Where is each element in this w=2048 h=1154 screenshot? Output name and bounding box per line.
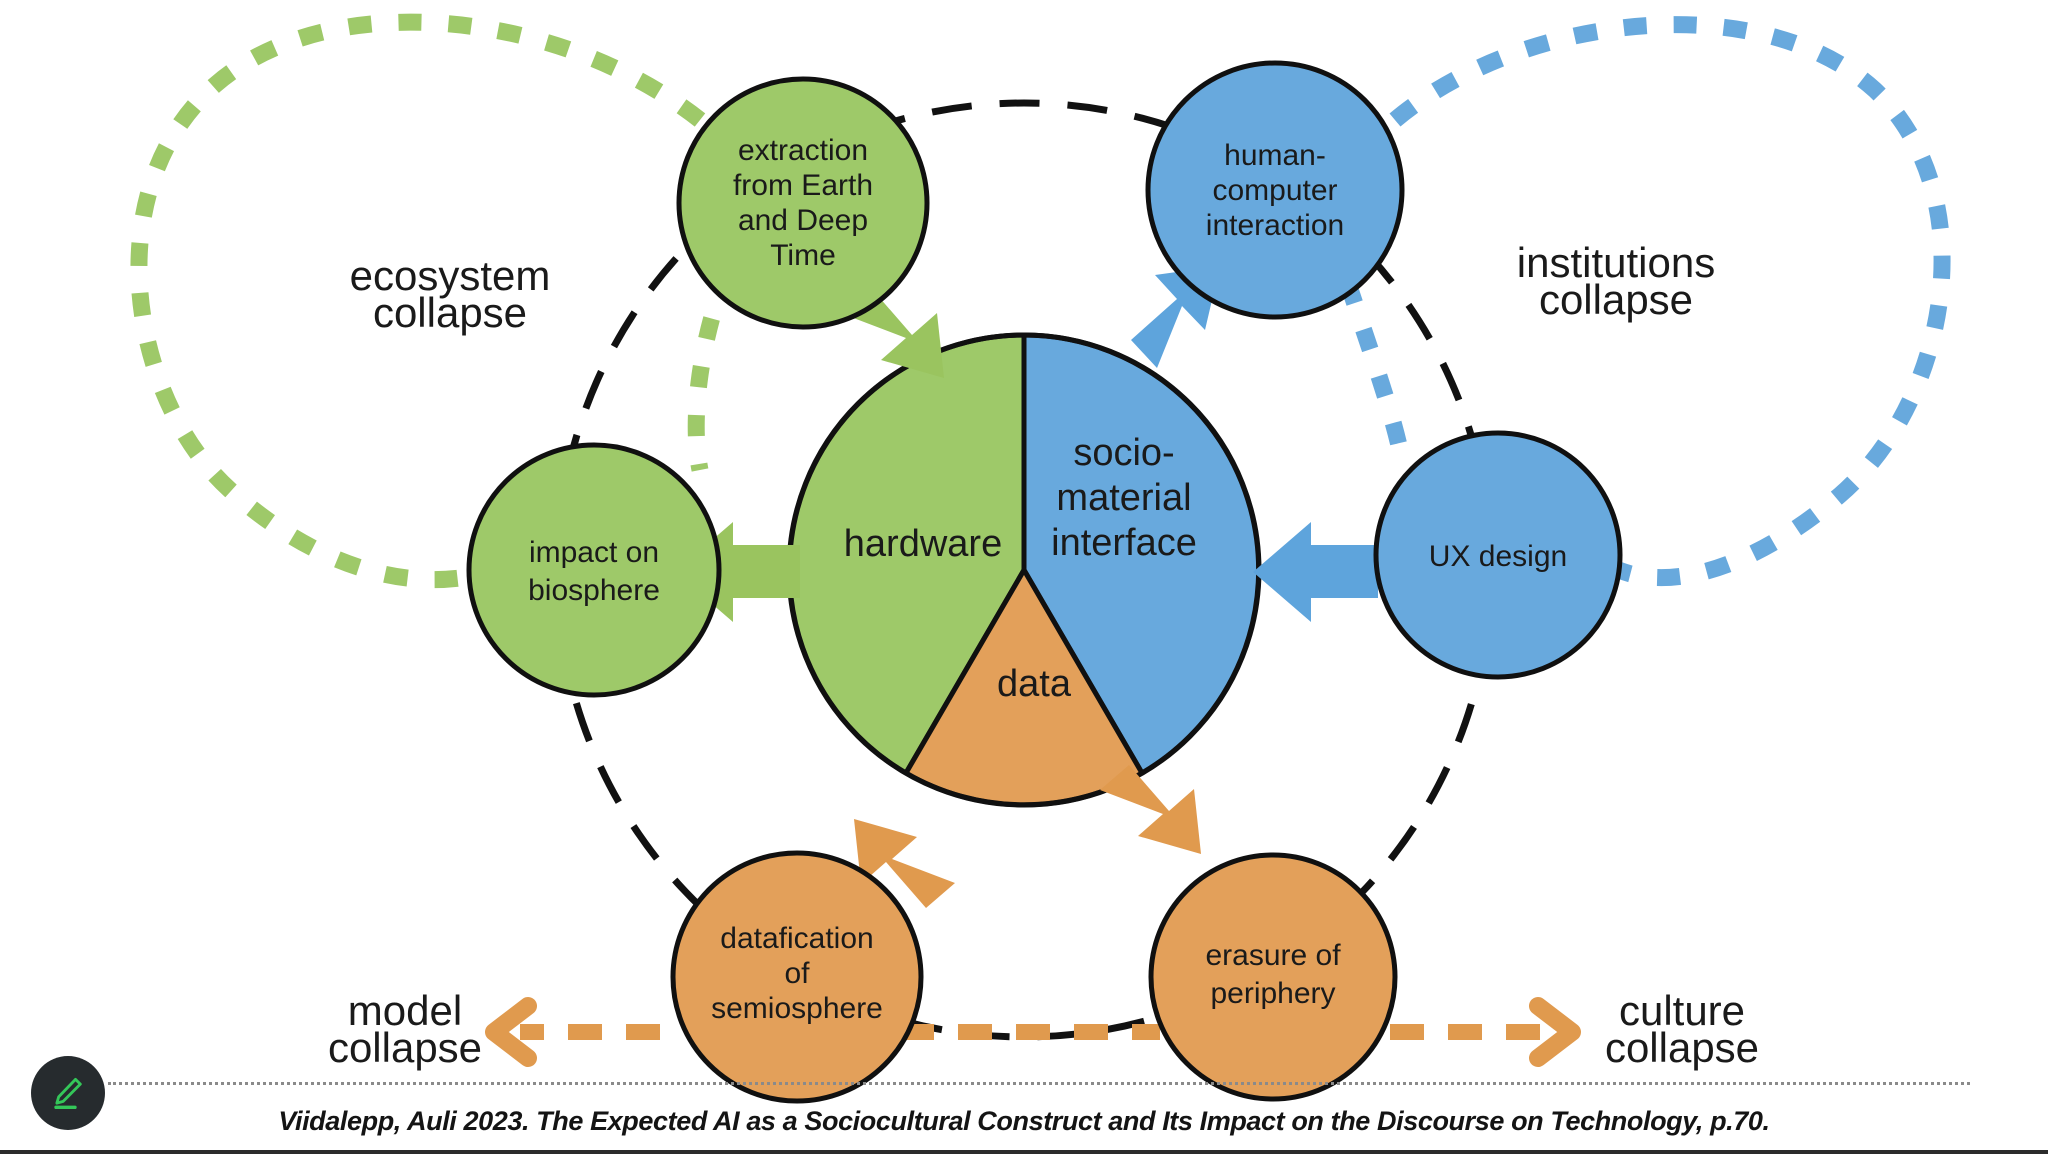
outer-label-institutions-collapse-line-2: collapse bbox=[1539, 276, 1693, 323]
node-extraction-circle[interactable] bbox=[679, 79, 927, 327]
caption-bar: Viidalepp, Auli 2023. The Expected AI as… bbox=[0, 1058, 2048, 1154]
source-caption: Viidalepp, Auli 2023. The Expected AI as… bbox=[0, 1106, 2048, 1137]
bottom-edge-bar bbox=[0, 1150, 2048, 1154]
edit-annotation-button[interactable] bbox=[31, 1056, 105, 1130]
outer-label-institutions-collapse-line-1: institutions bbox=[1517, 239, 1715, 286]
diagram-canvas: extraction from Earth and Deep Time huma… bbox=[0, 0, 2048, 1154]
node-human-computer-interaction-circle[interactable] bbox=[1148, 63, 1402, 317]
node-ux-design-circle[interactable] bbox=[1376, 433, 1620, 677]
node-impact-on-biosphere-circle[interactable] bbox=[469, 445, 719, 695]
pencil-icon bbox=[48, 1073, 88, 1113]
outer-label-culture-collapse-line-1: culture bbox=[1619, 987, 1745, 1034]
arrow-ux-to-interface bbox=[1253, 522, 1378, 622]
caption-divider bbox=[108, 1082, 1970, 1085]
hci-to-ux-dotted bbox=[1348, 283, 1400, 450]
diagram-svg: extraction from Earth and Deep Time huma… bbox=[0, 0, 2048, 1154]
outer-label-ecosystem-collapse-line-2: collapse bbox=[373, 289, 527, 336]
arrow-data-to-erasure bbox=[1100, 765, 1201, 854]
outer-label-model-collapse-line-1: model bbox=[348, 987, 462, 1034]
center-pie bbox=[789, 335, 1259, 805]
outer-label-ecosystem-collapse-line-1: ecosystem bbox=[350, 252, 551, 299]
extraction-to-impact-dotted bbox=[696, 272, 727, 470]
culture-collapse-arrowhead bbox=[1538, 1006, 1572, 1058]
